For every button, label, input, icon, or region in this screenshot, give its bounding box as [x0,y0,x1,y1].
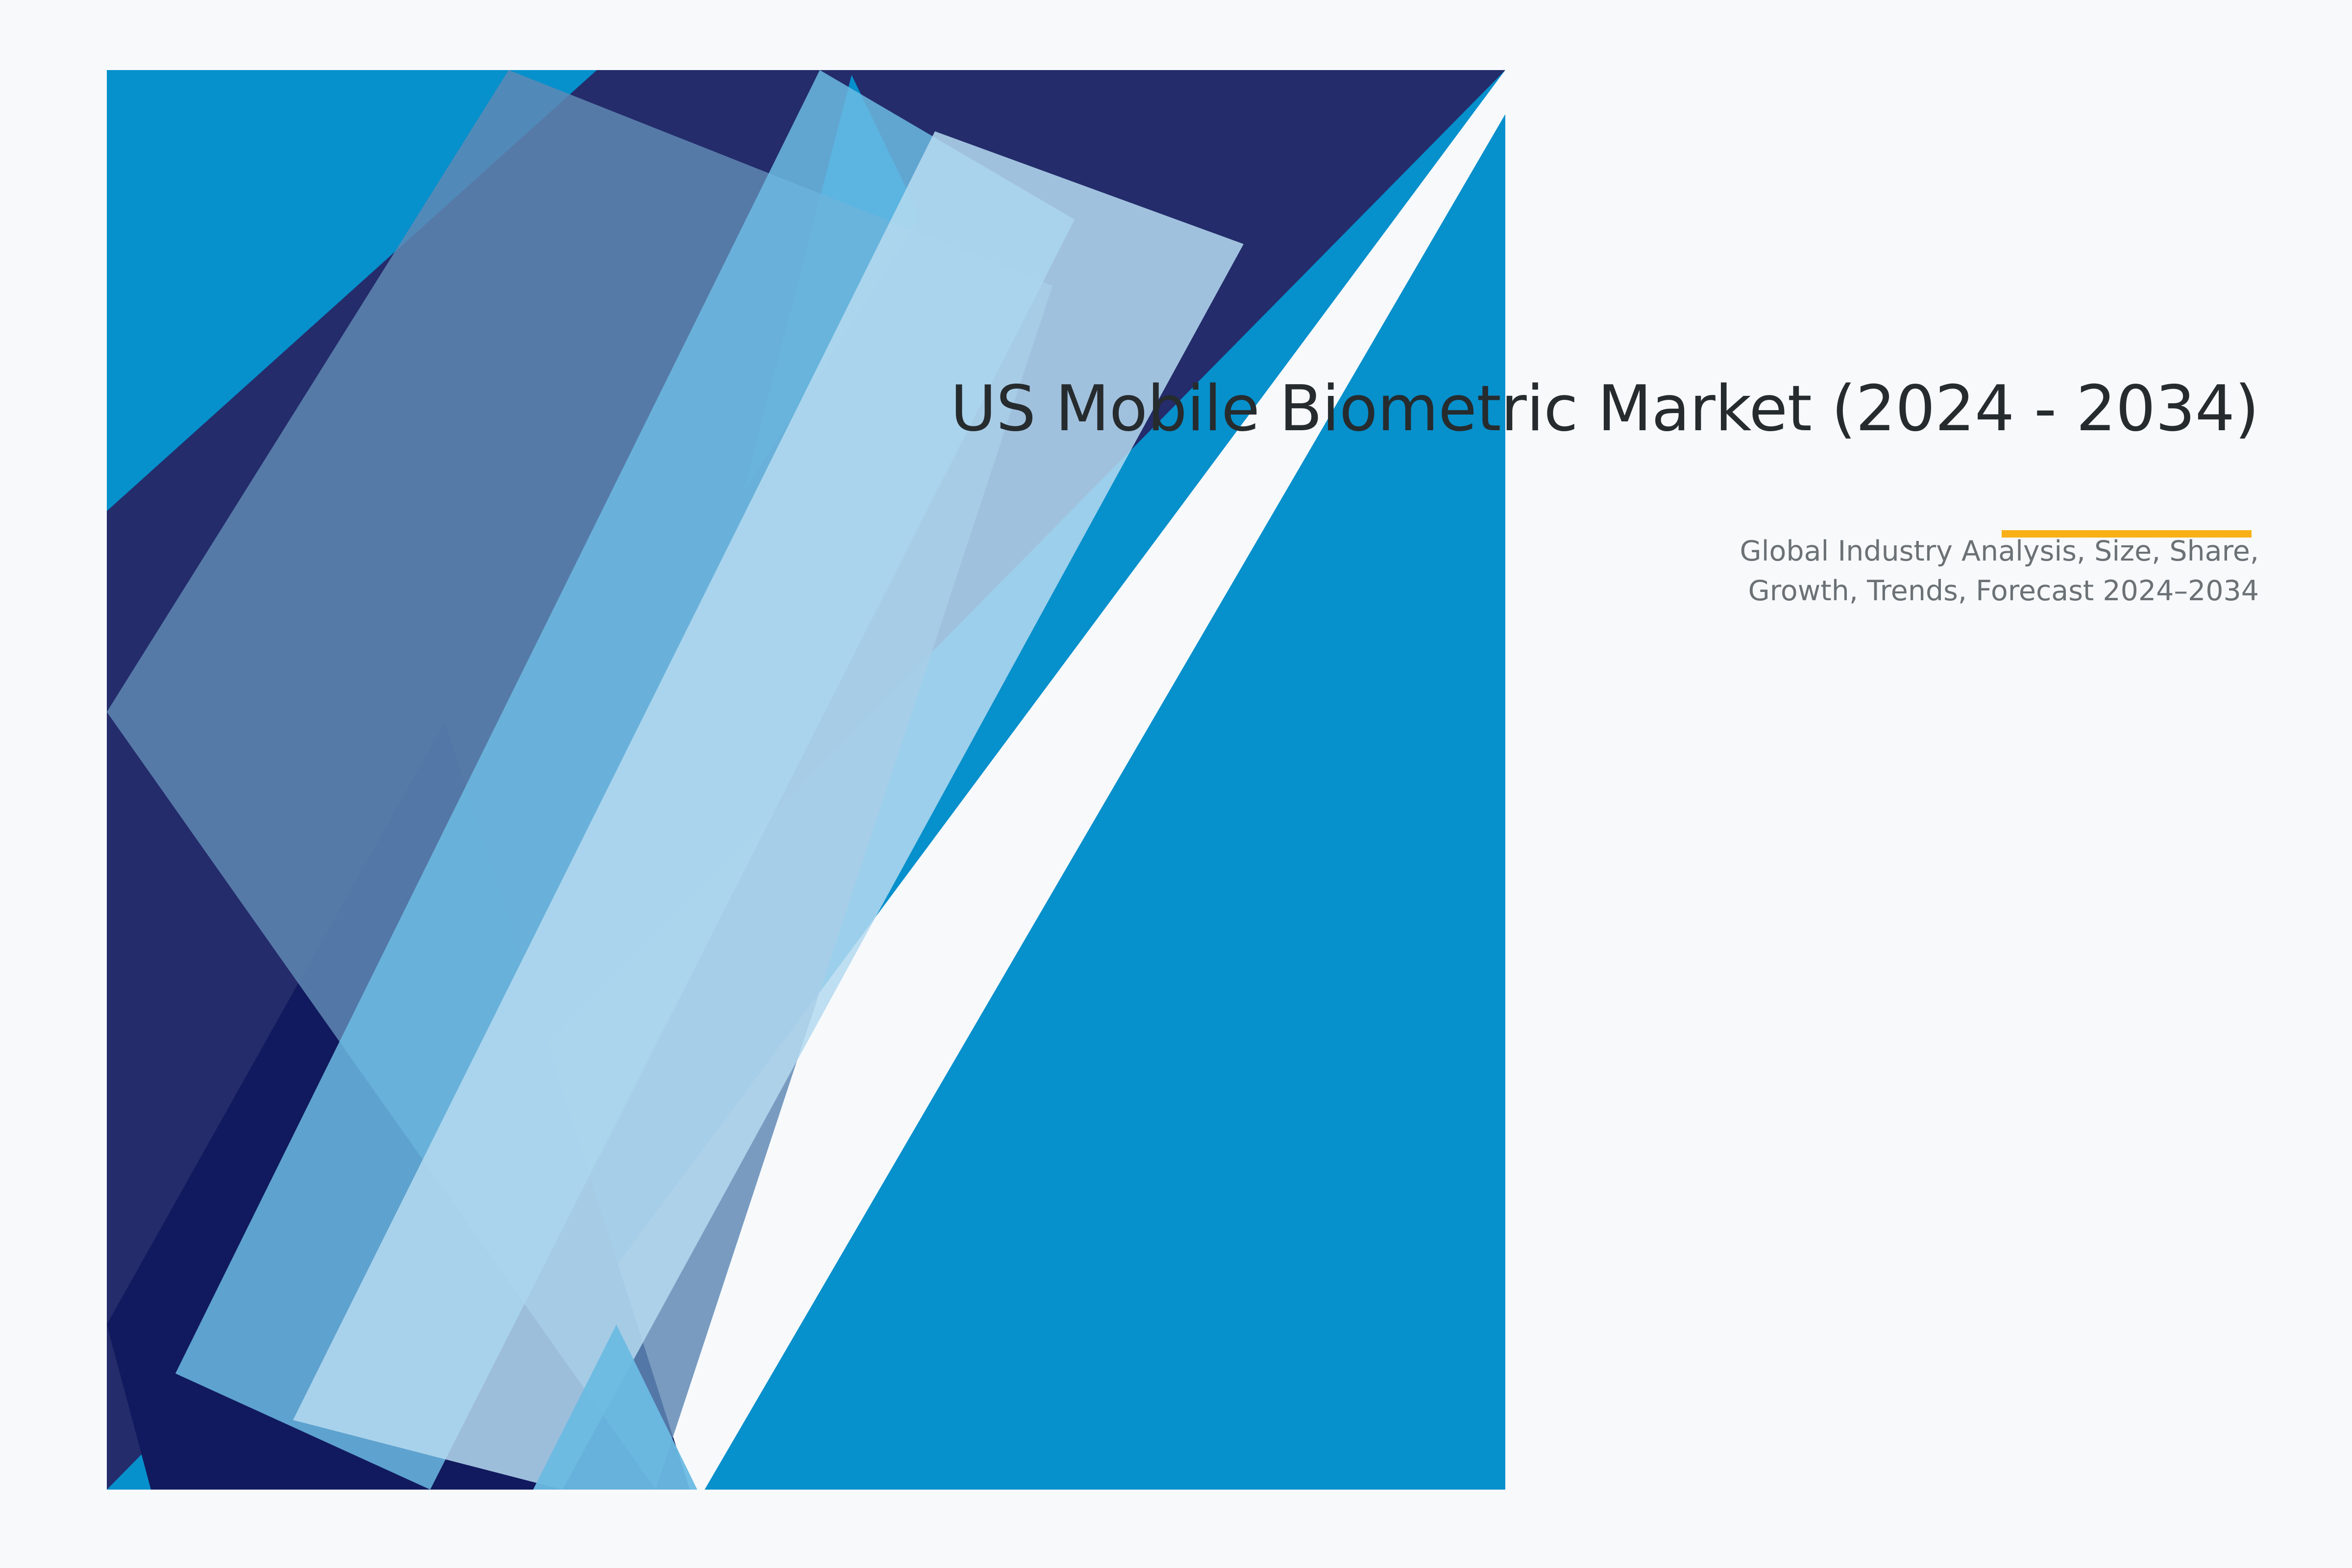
report-cover-slide: US Mobile Biometric Market (2024 - 2034)… [0,0,2352,1568]
page-subtitle: Global Industry Analysis, Size, Share, G… [1681,532,2259,611]
title-wrap: US Mobile Biometric Market (2024 - 2034) [906,372,2259,446]
title-underline-accent [2002,530,2252,538]
cover-artwork [107,70,1505,1490]
page-title: US Mobile Biometric Market (2024 - 2034) [906,372,2259,446]
cover-text-block: US Mobile Biometric Market (2024 - 2034)… [906,372,2259,611]
abstract-geometric-polygons [107,70,1505,1490]
